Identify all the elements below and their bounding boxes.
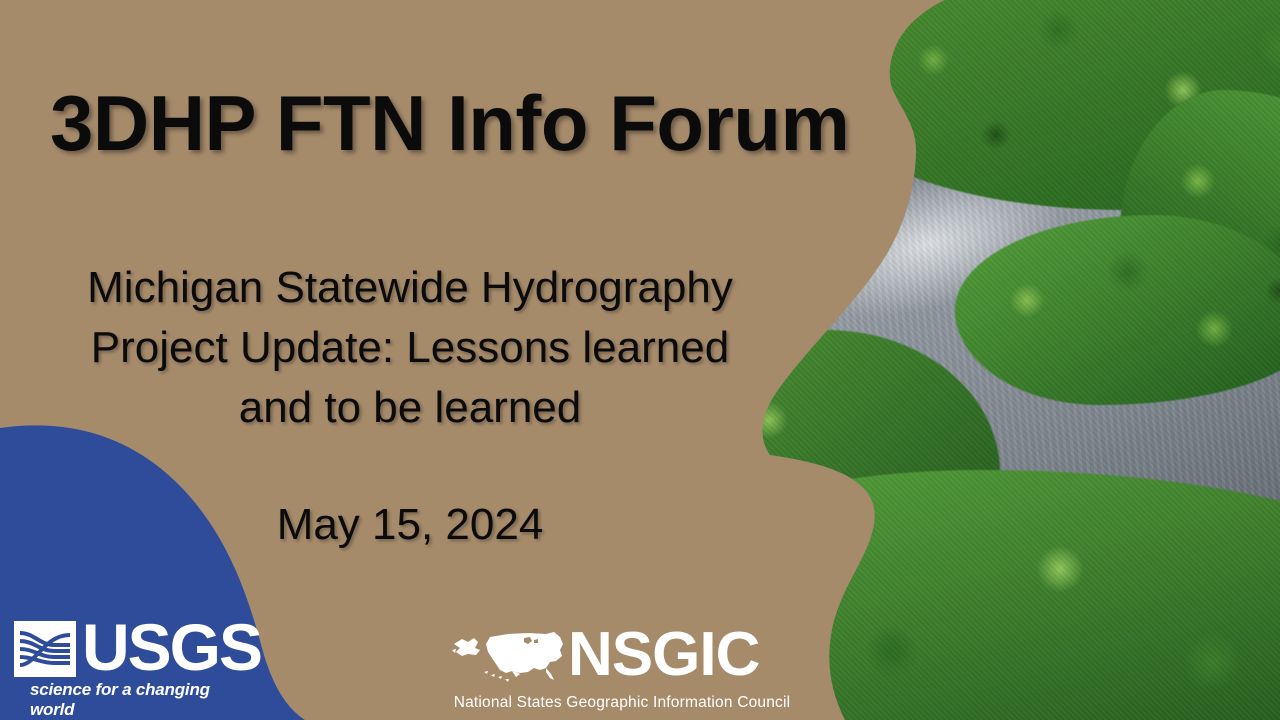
nsgic-logo: NSGIC National States Geographic Informa…: [450, 626, 790, 716]
usgs-logo-row: USGS: [14, 618, 254, 678]
subtitle-line-1: Michigan Statewide Hydrography: [20, 258, 800, 318]
page-title: 3DHP FTN Info Forum: [50, 78, 849, 169]
nsgic-logo-row: NSGIC: [450, 626, 790, 688]
usgs-logo: USGS science for a changing world: [14, 618, 254, 704]
presentation-date: May 15, 2024: [20, 500, 800, 550]
subtitle: Michigan Statewide Hydrography Project U…: [20, 258, 800, 438]
forest-canopy-bottom: [740, 470, 1280, 720]
usgs-wave-mark-icon: [14, 621, 76, 677]
subtitle-line-3: and to be learned: [20, 378, 800, 438]
title-slide: 3DHP FTN Info Forum Michigan Statewide H…: [0, 0, 1280, 720]
nsgic-tagline: National States Geographic Information C…: [452, 694, 792, 712]
usgs-wordmark: USGS: [82, 614, 261, 680]
usgs-tagline: science for a changing world: [30, 680, 254, 720]
nsgic-wordmark: NSGIC: [568, 624, 759, 686]
united-states-map-icon: [450, 628, 578, 686]
subtitle-line-2: Project Update: Lessons learned: [20, 318, 800, 378]
